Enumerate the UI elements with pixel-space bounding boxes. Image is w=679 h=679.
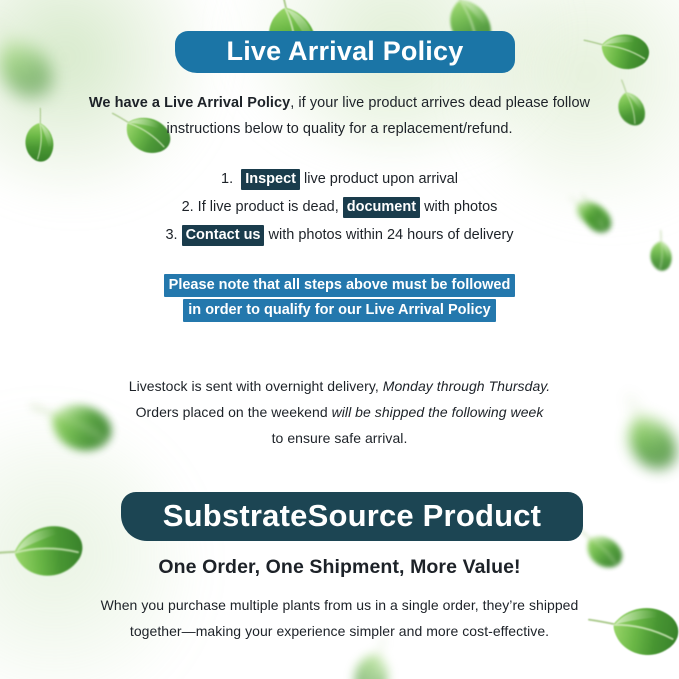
- step-number: 1.: [221, 171, 233, 187]
- shipping-schedule-paragraph: Livestock is sent with overnight deliver…: [0, 373, 679, 451]
- step-number: 3.: [165, 227, 177, 243]
- intro-paragraph: We have a Live Arrival Policy, if your l…: [0, 90, 679, 142]
- step-item: 1. Inspect live product upon arrival: [0, 165, 679, 193]
- value-line-1: When you purchase multiple plants from u…: [0, 592, 679, 618]
- live-arrival-policy-banner: Live Arrival Policy: [175, 31, 515, 73]
- value-line-2: together—making your experience simpler …: [0, 618, 679, 644]
- step-number: 2.: [182, 199, 194, 215]
- step-highlight-keyword: document: [343, 197, 420, 218]
- infographic-canvas: Live Arrival Policy We have a Live Arriv…: [0, 0, 679, 679]
- policy-note-line-2: in order to qualify for our Live Arrival…: [0, 299, 679, 321]
- step-text-after: live product upon arrival: [300, 171, 458, 187]
- intro-line-1: We have a Live Arrival Policy, if your l…: [0, 90, 679, 116]
- steps-list: 1. Inspect live product upon arrival2. I…: [0, 165, 679, 249]
- step-text-before: [178, 227, 182, 243]
- leaf-top-right-b-icon: [569, 0, 669, 98]
- shipping-line-2-plain: Orders placed on the weekend: [136, 404, 332, 420]
- policy-note-line-1: Please note that all steps above must be…: [0, 274, 679, 296]
- substratesource-product-banner: SubstrateSource Product: [121, 492, 583, 541]
- step-text-after: with photos: [420, 199, 497, 215]
- value-proposition-paragraph: When you purchase multiple plants from u…: [0, 592, 679, 644]
- shipping-line-1-plain: Livestock is sent with overnight deliver…: [129, 378, 383, 394]
- step-item: 2. If live product is dead, document wit…: [0, 193, 679, 221]
- step-highlight-keyword: Contact us: [182, 225, 265, 246]
- policy-note-highlight-2: in order to qualify for our Live Arrival…: [183, 299, 495, 322]
- substratesource-product-banner-label: SubstrateSource Product: [163, 498, 541, 534]
- intro-line-2: instructions below to quality for a repl…: [0, 116, 679, 142]
- value-subheading: One Order, One Shipment, More Value!: [0, 556, 679, 579]
- step-text-before: If live product is dead,: [194, 199, 343, 215]
- policy-note-block: Please note that all steps above must be…: [0, 274, 679, 324]
- intro-bold-lead: We have a Live Arrival Policy: [89, 95, 290, 111]
- shipping-line-1-italic: Monday through Thursday.: [383, 378, 550, 394]
- step-highlight-keyword: Inspect: [241, 169, 300, 190]
- shipping-line-2: Orders placed on the weekend will be shi…: [0, 399, 679, 425]
- live-arrival-policy-banner-label: Live Arrival Policy: [227, 36, 464, 67]
- shipping-line-2-italic: will be shipped the following week: [332, 404, 544, 420]
- intro-rest: , if your live product arrives dead plea…: [290, 95, 590, 111]
- shipping-line-1: Livestock is sent with overnight deliver…: [0, 373, 679, 399]
- step-text-after: with photos within 24 hours of delivery: [264, 227, 513, 243]
- shipping-line-3: to ensure safe arrival.: [0, 425, 679, 451]
- policy-note-highlight-1: Please note that all steps above must be…: [164, 274, 516, 297]
- step-item: 3. Contact us with photos within 24 hour…: [0, 221, 679, 249]
